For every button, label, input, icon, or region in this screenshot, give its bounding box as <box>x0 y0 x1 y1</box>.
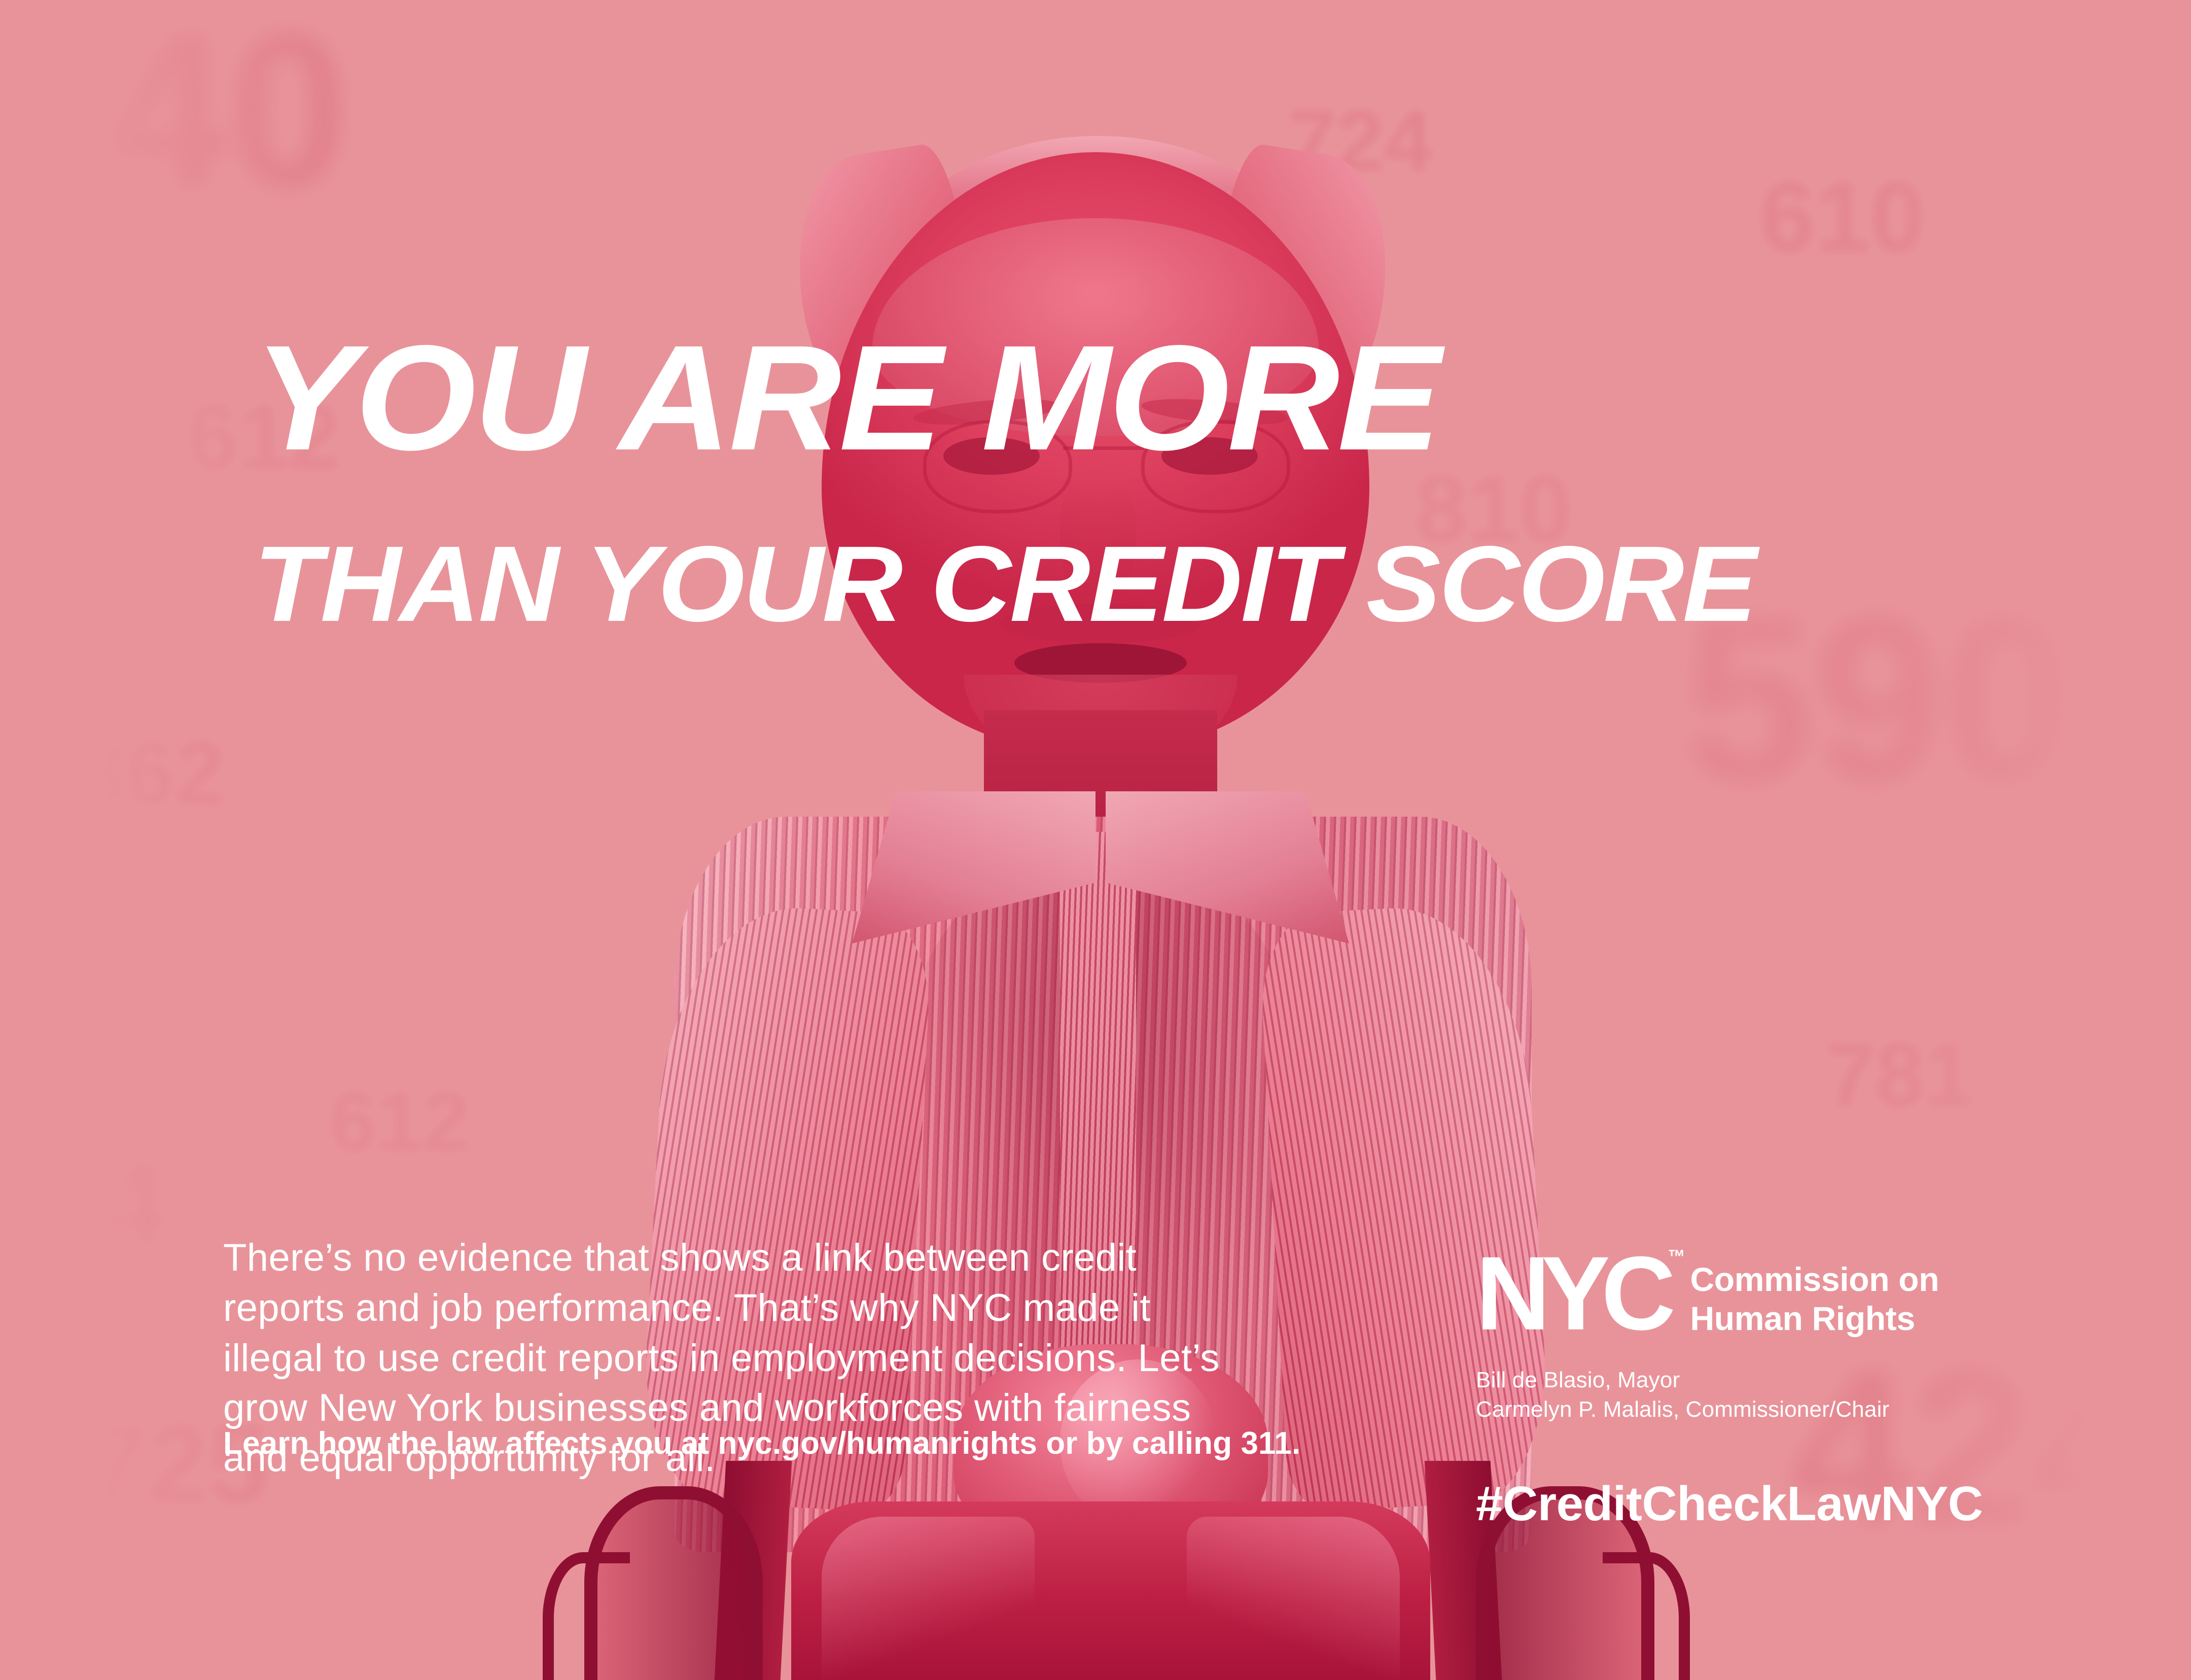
nyc-wordmark-text: NYC <box>1476 1235 1667 1352</box>
agency-name: Commission on Human Rights <box>1690 1253 1939 1338</box>
official-commissioner: Carmelyn P. Malalis, Commissioner/Chair <box>1476 1395 1939 1424</box>
agency-name-line-1: Commission on <box>1690 1260 1939 1299</box>
nyc-logo-row: NYC ™ Commission on Human Rights <box>1476 1253 1939 1338</box>
poster-canvas: 240724610612810590362612781724725424 <box>0 0 2191 1680</box>
officials-block: Bill de Blasio, Mayor Carmelyn P. Malali… <box>1476 1366 1939 1423</box>
campaign-hashtag: #CreditCheckLawNYC <box>1476 1476 1983 1532</box>
trademark-icon: ™ <box>1668 1249 1685 1265</box>
headline-line-1: YOU ARE MORE <box>254 332 1439 464</box>
official-mayor: Bill de Blasio, Mayor <box>1476 1366 1939 1394</box>
agency-name-line-2: Human Rights <box>1690 1299 1939 1338</box>
nyc-wordmark: NYC ™ <box>1476 1253 1667 1335</box>
foreground-content: YOU ARE MORE THAN YOUR CREDIT SCORE Ther… <box>0 0 2191 1680</box>
learn-more-line: Learn how the law affects you at nyc.gov… <box>223 1425 1300 1461</box>
headline-line-2: THAN YOUR CREDIT SCORE <box>254 537 1755 632</box>
nyc-agency-lockup: NYC ™ Commission on Human Rights Bill de… <box>1476 1253 1939 1424</box>
